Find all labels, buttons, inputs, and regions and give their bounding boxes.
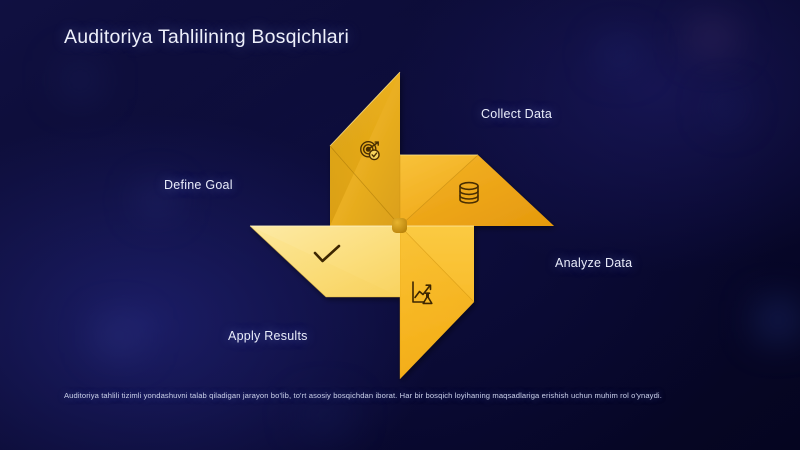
blade-label-analyze-data: Analyze Data bbox=[555, 256, 632, 270]
pinwheel-diagram bbox=[0, 0, 800, 450]
blade-label-define-goal: Define Goal bbox=[164, 178, 233, 192]
slide-canvas: Auditoriya Tahlilining Bosqichlari bbox=[0, 0, 800, 450]
blade-apply-results[interactable] bbox=[250, 226, 400, 297]
pinwheel-hub bbox=[392, 218, 407, 233]
blade-collect-data[interactable] bbox=[400, 155, 554, 226]
blade-define-goal[interactable] bbox=[330, 72, 400, 226]
blade-analyze-data[interactable] bbox=[400, 226, 474, 379]
slide-caption: Auditoriya tahlili tizimli yondashuvni t… bbox=[64, 390, 742, 403]
blade-label-collect-data: Collect Data bbox=[481, 107, 552, 121]
blade-label-apply-results: Apply Results bbox=[228, 329, 308, 343]
